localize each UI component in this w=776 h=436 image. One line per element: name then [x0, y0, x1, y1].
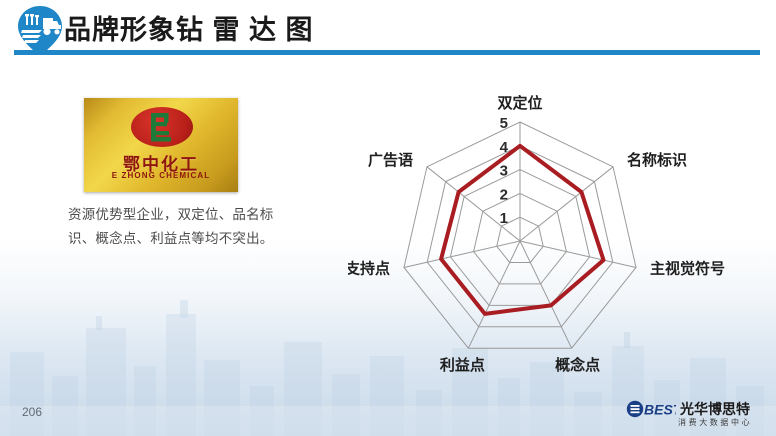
location-pin-tractor-icon — [12, 4, 68, 56]
radar-tick-label: 3 — [500, 163, 508, 180]
radar-axis-label: 广告语 — [368, 151, 413, 169]
radar-axis-label: 概念点 — [555, 356, 600, 374]
slide-canvas: 品牌形象钻 雷 达 图 鄂中化工 E ZHONG CHEMICAL 资源优势型企… — [0, 0, 776, 436]
page-title: 品牌形象钻 雷 达 图 — [64, 8, 314, 47]
brand-logo-image: 鄂中化工 E ZHONG CHEMICAL — [84, 98, 238, 192]
radar-chart: 12345 双定位名称标识主视觉符号概念点利益点支持点广告语 — [348, 82, 760, 386]
radar-axis-label: 双定位 — [497, 94, 542, 112]
radar-axis-label: 主视觉符号 — [650, 260, 725, 278]
footer-company-name: 光华博思特 — [680, 399, 750, 419]
radar-spokes — [404, 122, 636, 348]
description-text: 资源优势型企业，双定位、品名标识、概念点、利益点等均不突出。 — [68, 203, 282, 251]
footer-subtitle: 消费大数据中心 — [678, 417, 752, 428]
best-logo-text: BEST — [644, 402, 676, 418]
radar-tick-labels: 12345 — [500, 115, 509, 227]
radar-axis-label: 利益点 — [440, 356, 485, 374]
radar-axis-labels: 双定位名称标识主视觉符号概念点利益点支持点广告语 — [348, 94, 725, 374]
radar-tick-label: 5 — [500, 115, 508, 132]
radar-axis-label: 支持点 — [348, 260, 390, 278]
radar-tick-label: 4 — [500, 139, 509, 156]
page-number: 206 — [22, 405, 42, 419]
radar-tick-label: 1 — [500, 210, 508, 227]
slide-header: 品牌形象钻 雷 达 图 — [0, 0, 776, 60]
brand-logo-ellipse — [131, 107, 193, 147]
header-rule-left — [14, 50, 56, 55]
radar-axis-label: 名称标识 — [627, 151, 687, 169]
radar-spoke — [468, 241, 520, 348]
radar-chart-svg: 12345 双定位名称标识主视觉符号概念点利益点支持点广告语 — [348, 82, 760, 386]
brand-logo-english-name: E ZHONG CHEMICAL — [84, 171, 238, 180]
radar-tick-label: 2 — [500, 186, 508, 203]
best-logo-icon: BEST — [626, 399, 676, 419]
brand-logo-glyph-icon — [131, 107, 193, 147]
header-rule — [56, 50, 760, 55]
footer-logo: BEST 光华博思特 消费大数据中心 — [626, 398, 764, 430]
